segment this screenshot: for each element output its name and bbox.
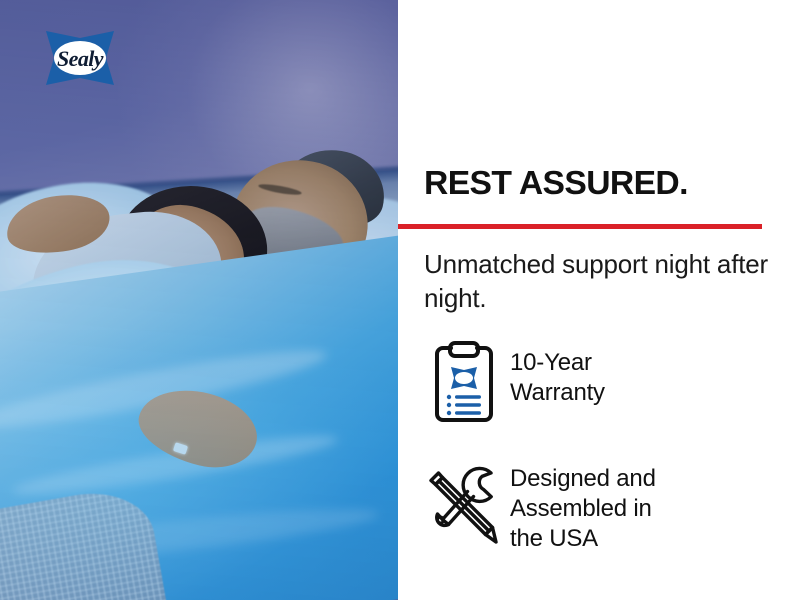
clipboard-warranty-icon — [418, 338, 510, 434]
message-panel: REST ASSURED. Unmatched support night af… — [398, 0, 800, 600]
bedroom-photo: Sealy — [0, 0, 398, 600]
subheadline: Unmatched support night after night. — [424, 247, 800, 315]
headline: REST ASSURED. — [424, 164, 688, 202]
photo-color-grade — [0, 0, 398, 600]
sealy-bowtie-logo: Sealy — [44, 28, 116, 88]
wrench-pencil-tools-icon — [418, 460, 510, 556]
feature-item-usa: Designed and Assembled in the USA — [418, 460, 788, 556]
sealy-logo-wordmark: Sealy — [44, 29, 116, 89]
feature-label-usa: Designed and Assembled in the USA — [510, 460, 656, 554]
feature-label-warranty: 10-Year Warranty — [510, 338, 605, 408]
feature-list: 10-Year Warranty — [418, 338, 788, 582]
red-divider-rule — [398, 224, 762, 229]
sealy-advertisement: Sealy REST ASSURED. Unmatched support ni… — [0, 0, 800, 600]
feature-item-warranty: 10-Year Warranty — [418, 338, 788, 434]
